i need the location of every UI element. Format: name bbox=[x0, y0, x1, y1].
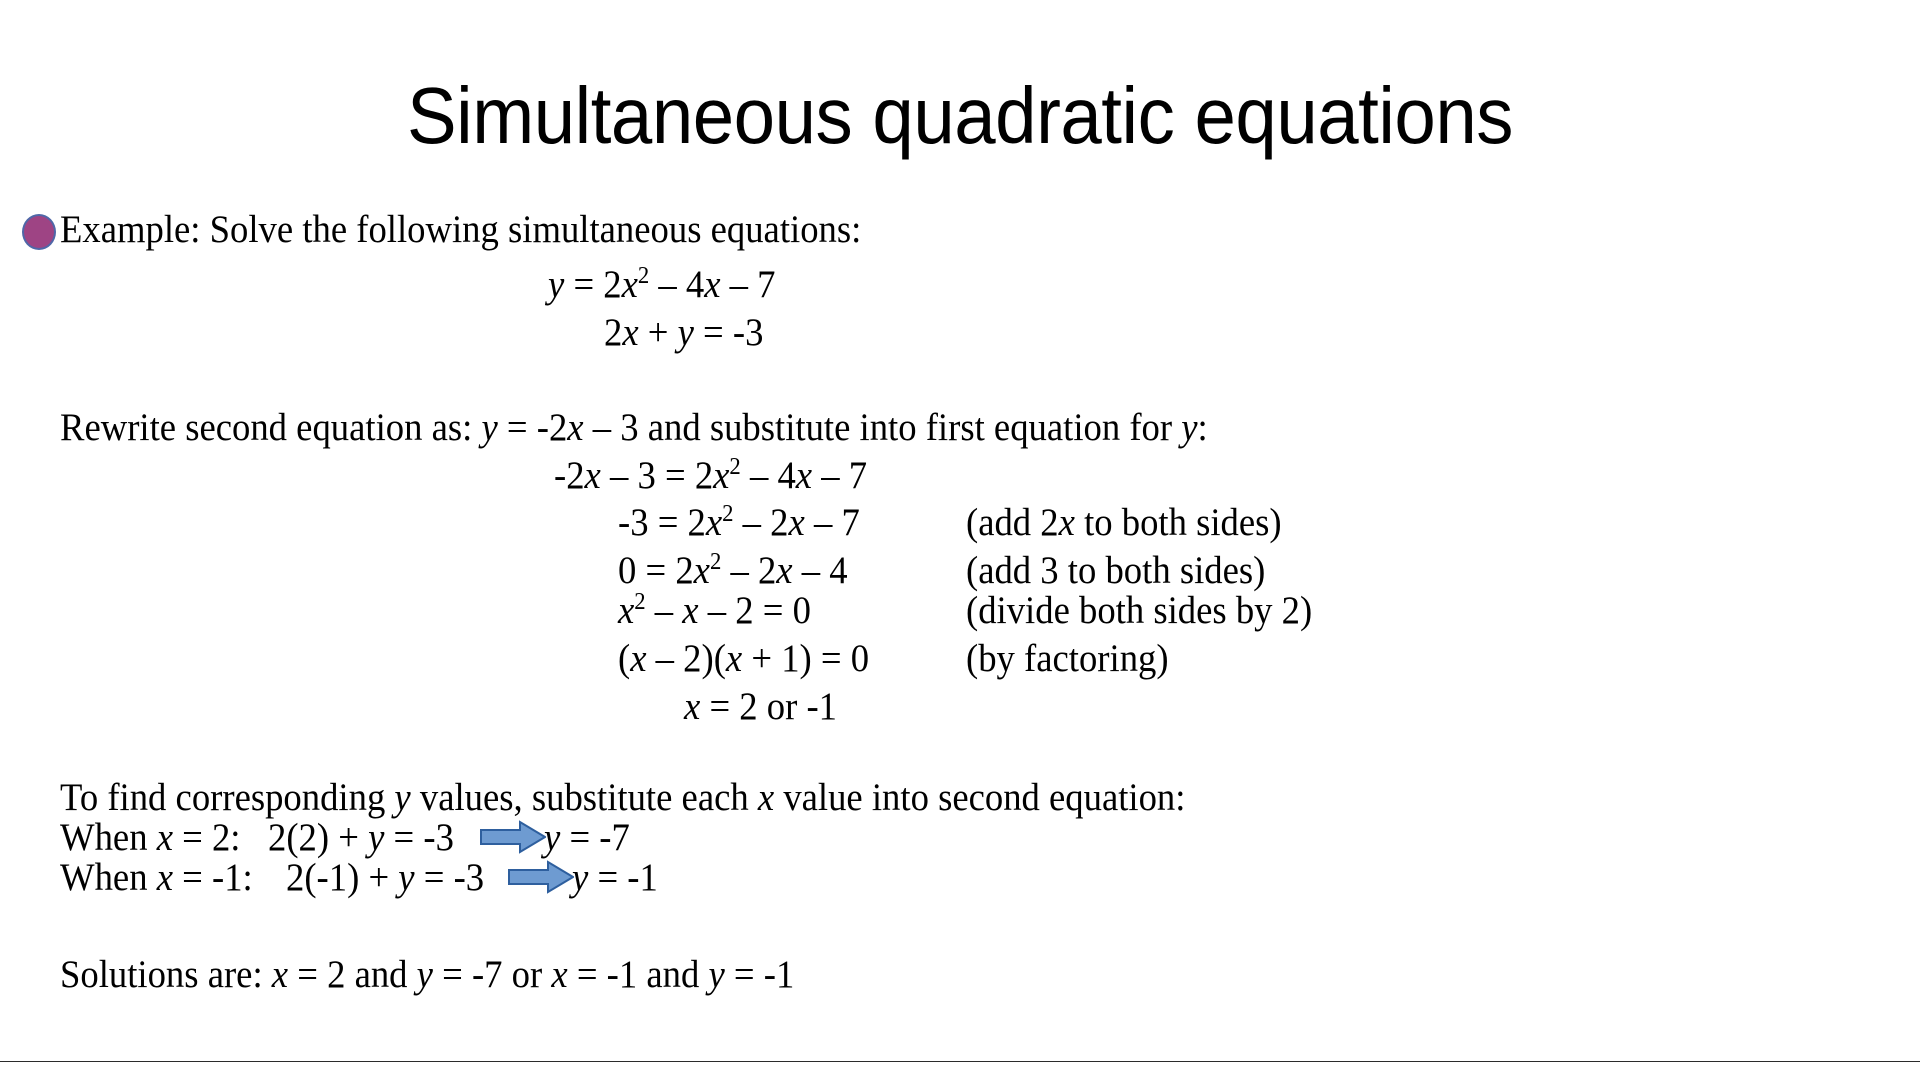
substitution-1-result: y = -7 bbox=[544, 818, 630, 857]
substitution-2-condition: When x = -1: bbox=[60, 858, 253, 897]
substitute-line: To find corresponding y values, substitu… bbox=[60, 778, 1185, 817]
working-step-3-note: (add 3 to both sides) bbox=[966, 551, 1265, 590]
footer-divider bbox=[0, 1061, 1920, 1062]
rewrite-line: Rewrite second equation as: y = -2x – 3 … bbox=[60, 408, 1208, 447]
solutions-line: Solutions are: x = 2 and y = -7 or x = -… bbox=[60, 955, 794, 994]
right-arrow-icon-2 bbox=[508, 860, 574, 894]
given-equation-1: y = 2x2 – 4x – 7 bbox=[548, 265, 776, 304]
slide-canvas: Simultaneous quadratic equations Example… bbox=[0, 0, 1920, 1080]
substitution-1-condition: When x = 2: bbox=[60, 818, 241, 857]
working-step-2-note: (add 2x to both sides) bbox=[966, 503, 1282, 542]
intro-line: Example: Solve the following simultaneou… bbox=[60, 210, 861, 249]
substitution-2-result: y = -1 bbox=[572, 858, 658, 897]
working-step-5-note: (by factoring) bbox=[966, 639, 1169, 678]
working-step-1-equation: -2x – 3 = 2x2 – 4x – 7 bbox=[554, 456, 867, 495]
bullet-circle-icon bbox=[22, 214, 56, 250]
substitution-2-expression: 2(-1) + y = -3 bbox=[286, 858, 484, 897]
working-step-5-equation: (x – 2)(x + 1) = 0 bbox=[618, 639, 869, 678]
right-arrow-icon-1 bbox=[480, 820, 546, 854]
working-step-2-equation: -3 = 2x2 – 2x – 7 bbox=[618, 503, 860, 542]
working-step-6-equation: x = 2 or -1 bbox=[684, 687, 837, 726]
working-step-4-equation: x2 – x – 2 = 0 bbox=[618, 591, 811, 630]
given-equation-2: 2x + y = -3 bbox=[604, 313, 763, 352]
substitution-1-expression: 2(2) + y = -3 bbox=[268, 818, 454, 857]
slide-body: Example: Solve the following simultaneou… bbox=[0, 0, 1920, 1080]
working-step-3-equation: 0 = 2x2 – 2x – 4 bbox=[618, 551, 848, 590]
working-step-4-note: (divide both sides by 2) bbox=[966, 591, 1312, 630]
